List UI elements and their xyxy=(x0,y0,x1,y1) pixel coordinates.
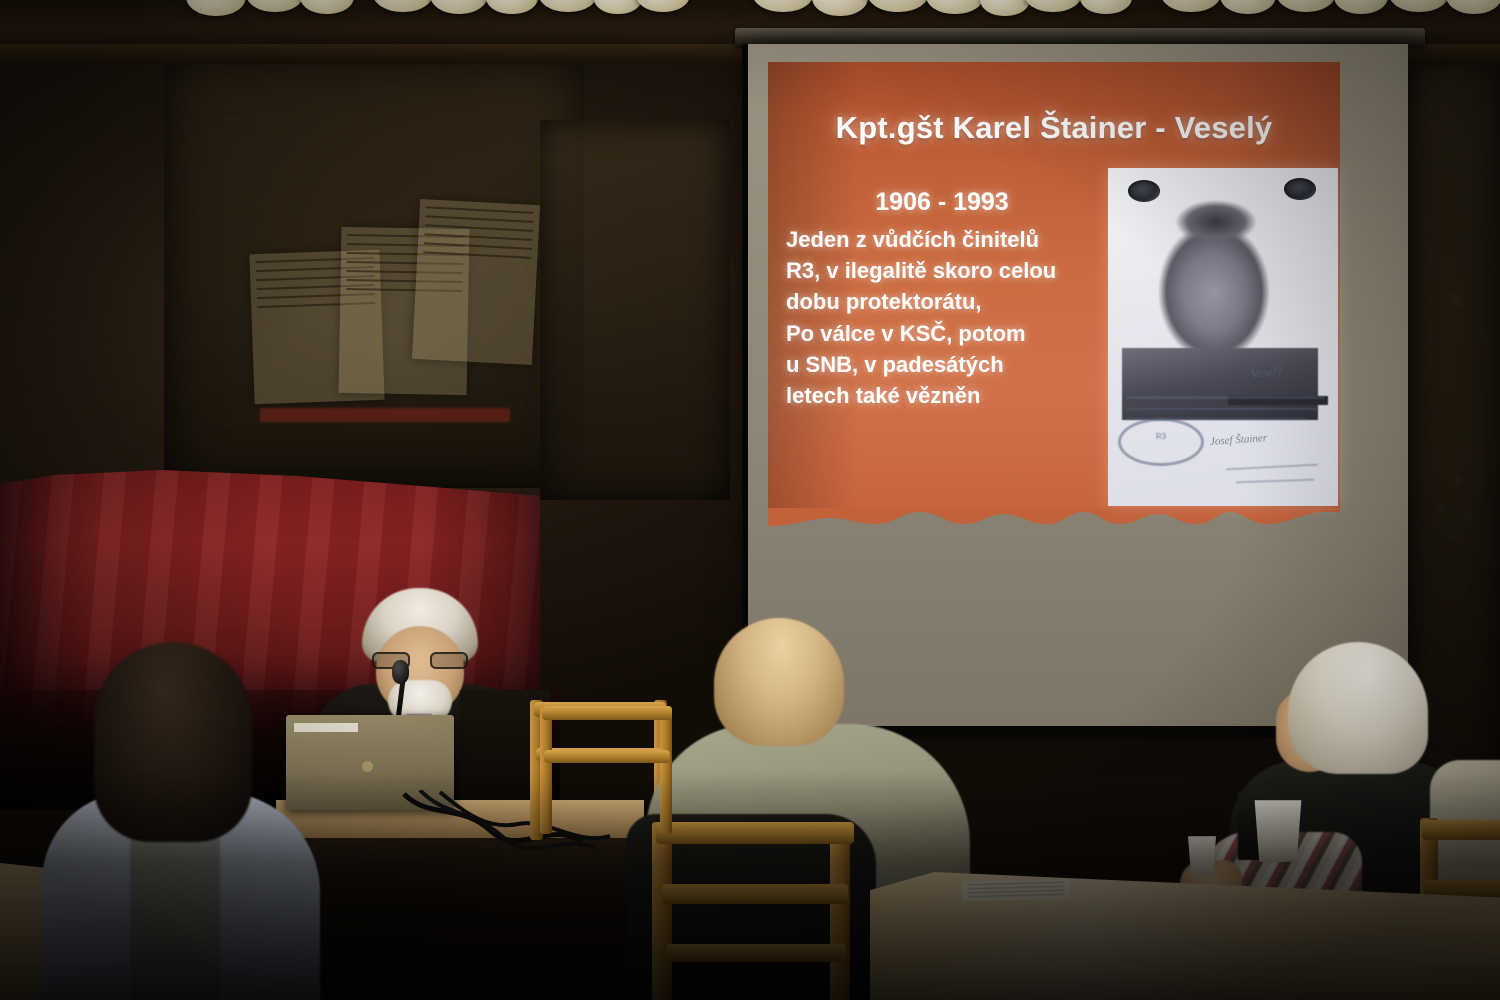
balloon-11 xyxy=(866,0,930,12)
balloon-18 xyxy=(1276,0,1336,12)
document-rule-2 xyxy=(1126,408,1318,410)
microphone-icon xyxy=(392,660,409,684)
audience-left-person xyxy=(42,642,342,1000)
document-rule-4 xyxy=(1226,464,1318,471)
mural-sheet-music xyxy=(164,56,584,488)
slide-title: Kpt.gšt Karel Štainer - Veselý xyxy=(768,110,1340,146)
document-rule-1 xyxy=(1126,396,1324,399)
balloon-0 xyxy=(186,0,246,16)
balloon-21 xyxy=(1446,0,1500,14)
balloon-2 xyxy=(300,0,354,14)
balloon-15 xyxy=(1080,0,1132,14)
slide-body-line-3: Po válce v KSČ, potom xyxy=(786,318,1116,349)
audience-left-scarf xyxy=(130,830,220,1000)
balloon-14 xyxy=(1024,0,1082,12)
audience-right-hair xyxy=(1288,642,1428,774)
paper-on-table xyxy=(962,879,1070,902)
slide-body-line-2: dobu protektorátu, xyxy=(786,286,1116,317)
balloon-16 xyxy=(1160,0,1222,12)
slide-body-text: Jeden z vůdčích činitelůR3, v ilegalitě … xyxy=(786,224,1116,411)
document-rule-5 xyxy=(1236,479,1314,484)
large-cup xyxy=(1252,800,1304,862)
presentation-slide: Kpt.gšt Karel Štainer - Veselý 1906 - 19… xyxy=(768,62,1340,512)
slide-wave-edge xyxy=(768,508,1340,538)
balloon-10 xyxy=(812,0,868,16)
slide-portrait-document: Veselý R3 Josef Štainer xyxy=(1108,168,1338,506)
slide-body-line-0: Jeden z vůdčích činitelů xyxy=(786,224,1116,255)
laptop-logo-icon xyxy=(362,761,373,772)
balloon-8 xyxy=(636,0,690,12)
balloon-1 xyxy=(246,0,304,12)
balloon-19 xyxy=(1334,0,1388,14)
eyeglasses-icon xyxy=(372,652,468,669)
audience-left-hair xyxy=(94,642,252,842)
small-cup xyxy=(1186,836,1218,876)
balloon-7 xyxy=(594,0,642,14)
document-stamp: R3 xyxy=(1118,418,1204,466)
balloon-17 xyxy=(1220,0,1276,14)
photograph-scene: Kpt.gšt Karel Štainer - Veselý 1906 - 19… xyxy=(0,0,1500,1000)
audience-center-head xyxy=(714,618,844,746)
document-signature-2: Josef Štainer xyxy=(1210,432,1268,448)
slide-body-line-1: R3, v ilegalitě skoro celou xyxy=(786,255,1116,286)
slide-years: 1906 - 1993 xyxy=(792,188,1092,217)
mural-panel-secondary xyxy=(540,120,730,500)
balloon-4 xyxy=(430,0,488,14)
balloon-20 xyxy=(1388,0,1450,12)
balloon-12 xyxy=(926,0,984,14)
balloon-6 xyxy=(538,0,598,12)
slide-body-line-4: u SNB, v padesátých xyxy=(786,349,1116,380)
balloon-5 xyxy=(486,0,538,14)
punch-hole-right-icon xyxy=(1284,178,1316,200)
slide-body-line-5: letech také vězněn xyxy=(786,380,1116,411)
balloon-9 xyxy=(752,0,814,12)
balloon-13 xyxy=(980,0,1030,16)
wooden-chair-center-back xyxy=(540,706,676,836)
balloon-3 xyxy=(372,0,434,12)
